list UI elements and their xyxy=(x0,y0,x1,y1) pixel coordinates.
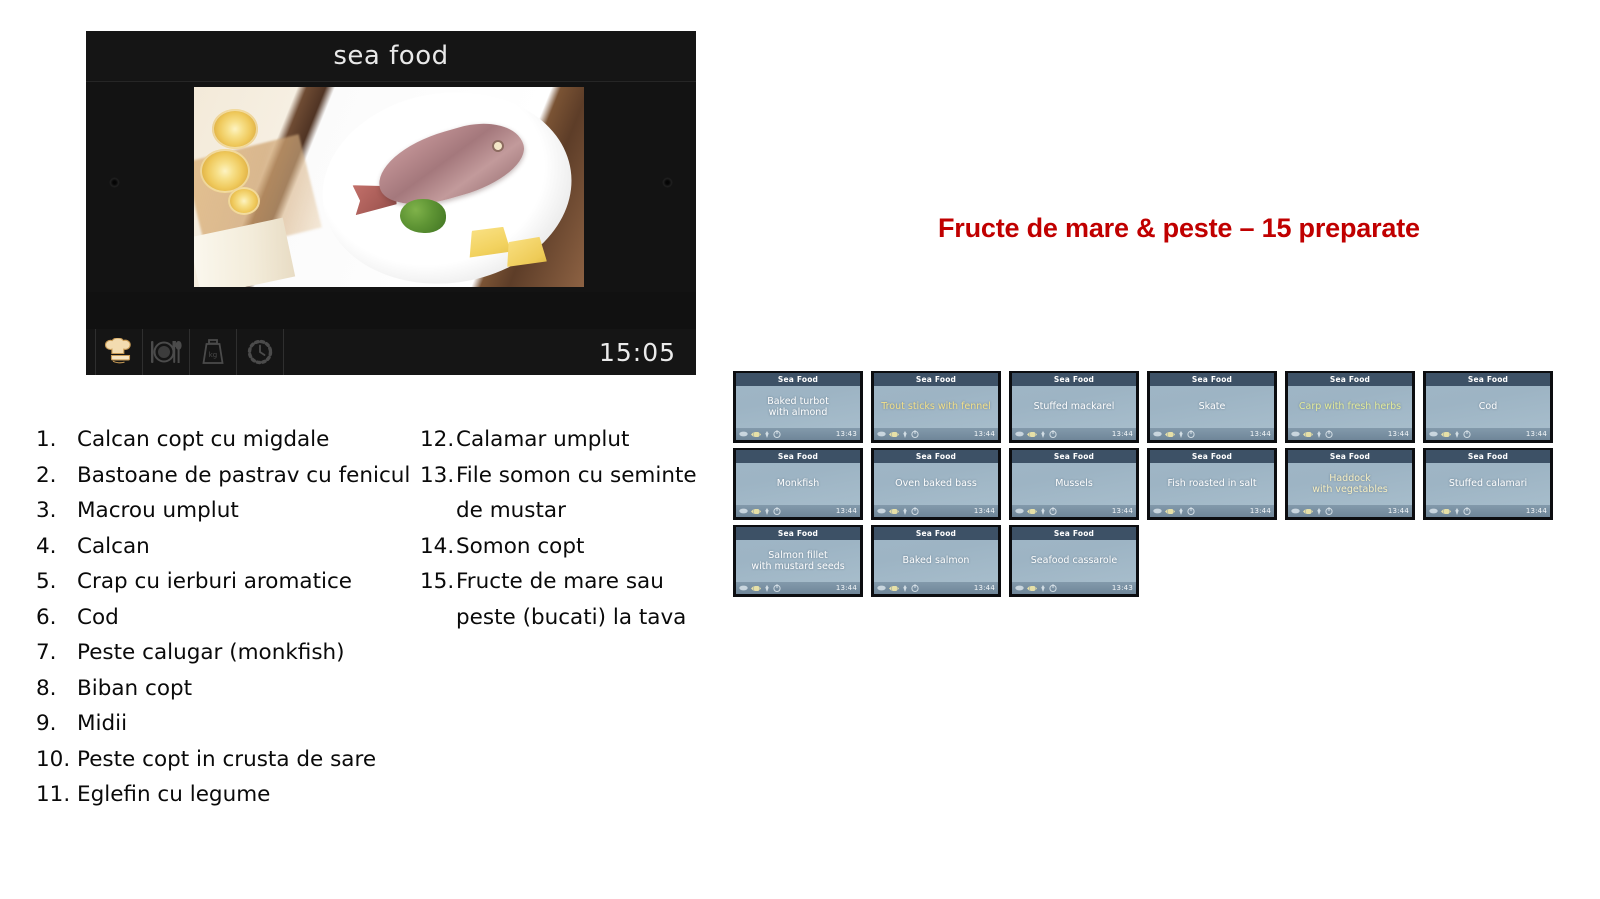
oven-toolbar: kg 15:05 xyxy=(86,329,696,375)
timer-button[interactable] xyxy=(237,329,284,375)
recipe-list-label: Bastoane de pastrav cu fenicul xyxy=(77,458,426,494)
recipe-list-label: Biban copt xyxy=(77,671,426,707)
thumbnail-header: Sea Food xyxy=(736,373,860,386)
recipe-thumbnail[interactable]: Sea FoodHaddockwith vegetables13:44 xyxy=(1285,448,1415,520)
thumbnail-title: Stuffed mackarel xyxy=(1034,401,1115,413)
thumbnail-screen: Sea FoodCod13:44 xyxy=(1426,373,1550,440)
tray-icon xyxy=(1015,431,1024,437)
thumbnail-time-label: 13:44 xyxy=(836,507,857,515)
thumbnail-header-label: Sea Food xyxy=(916,452,956,461)
thumbnail-footer: 13:44 xyxy=(1012,505,1136,517)
recipe-list-label: Calcan xyxy=(77,529,426,565)
recipe-thumbnail[interactable]: Sea FoodTrout sticks with fennel13:44 xyxy=(871,371,1001,443)
thumb-footer-icons xyxy=(1291,507,1333,515)
thumb-footer-icons xyxy=(1153,507,1195,515)
thumbnail-footer: 13:44 xyxy=(736,505,860,517)
thumbnail-screen: Sea FoodBaked salmon13:44 xyxy=(874,527,998,594)
refresh-icon xyxy=(773,430,781,438)
recipe-list-item: 2.Bastoane de pastrav cu fenicul xyxy=(36,458,426,494)
thumbnail-time-label: 13:44 xyxy=(1526,507,1547,515)
probe-icon xyxy=(764,431,770,438)
thumbnail-header-label: Sea Food xyxy=(1054,529,1094,538)
tray-icon xyxy=(1015,585,1024,591)
recipe-list-item: 14.Somon copt xyxy=(420,529,720,565)
sensor-dot-right-icon xyxy=(663,178,672,187)
thumbnail-header-label: Sea Food xyxy=(1330,375,1370,384)
recipe-list-label: Peste calugar (monkfish) xyxy=(77,635,426,671)
plate-cutlery-icon xyxy=(149,338,183,366)
recipe-thumbnail[interactable]: Sea FoodFish roasted in salt13:44 xyxy=(1147,448,1277,520)
thumbnail-header-label: Sea Food xyxy=(1192,375,1232,384)
thumbnail-screen: Sea FoodCarp with fresh herbs13:44 xyxy=(1288,373,1412,440)
recipe-list-item: 1.Calcan copt cu migdale xyxy=(36,422,426,458)
thumbnail-footer: 13:44 xyxy=(1012,428,1136,440)
thumbnail-time-label: 13:44 xyxy=(1526,430,1547,438)
recipe-list-number: 7. xyxy=(36,635,77,671)
thumbnail-header: Sea Food xyxy=(1426,450,1550,463)
refresh-icon xyxy=(1463,507,1471,515)
thumbnail-header-label: Sea Food xyxy=(1468,452,1508,461)
refresh-icon xyxy=(1187,430,1195,438)
refresh-icon xyxy=(1463,430,1471,438)
recipe-list-number: 5. xyxy=(36,564,77,600)
thumbnail-footer: 13:44 xyxy=(874,582,998,594)
thumbnail-body: Mussels xyxy=(1012,463,1136,505)
thumbnail-header-label: Sea Food xyxy=(1054,452,1094,461)
thumbnail-header: Sea Food xyxy=(736,527,860,540)
recipe-list-number: 11. xyxy=(36,777,77,813)
dish-photo xyxy=(194,87,584,287)
thumbnail-body: Baked turbotwith almond xyxy=(736,386,860,428)
thumbnail-footer: 13:43 xyxy=(1012,582,1136,594)
thumbnail-screen: Sea FoodTrout sticks with fennel13:44 xyxy=(874,373,998,440)
probe-icon xyxy=(1040,431,1046,438)
thumbnail-row: Sea FoodMonkfish13:44Sea FoodOven baked … xyxy=(733,448,1563,520)
recipe-thumbnail[interactable]: Sea FoodCarp with fresh herbs13:44 xyxy=(1285,371,1415,443)
recipe-list-label: Calamar umplut xyxy=(456,422,720,458)
thumbnail-time-label: 13:44 xyxy=(1112,430,1133,438)
recipe-list-number: 9. xyxy=(36,706,77,742)
thumbnail-header-label: Sea Food xyxy=(1330,452,1370,461)
tray-icon xyxy=(1429,508,1438,514)
thumbnail-title: Fish roasted in salt xyxy=(1167,478,1256,490)
thumbnail-body: Salmon filletwith mustard seeds xyxy=(736,540,860,582)
thumbnail-screen: Sea FoodBaked turbotwith almond13:43 xyxy=(736,373,860,440)
thumbnail-screen: Sea FoodSkate13:44 xyxy=(1150,373,1274,440)
probe-icon xyxy=(764,585,770,592)
thumbnail-header-label: Sea Food xyxy=(916,529,956,538)
thumbnail-screen: Sea FoodSalmon filletwith mustard seeds1… xyxy=(736,527,860,594)
recipe-thumbnail[interactable]: Sea FoodSalmon filletwith mustard seeds1… xyxy=(733,525,863,597)
recipe-list-number: 6. xyxy=(36,600,77,636)
tray-icon xyxy=(739,508,748,514)
thumbnail-time-label: 13:44 xyxy=(974,584,995,592)
probe-icon xyxy=(764,508,770,515)
thumbnail-header-label: Sea Food xyxy=(778,452,818,461)
thumbnail-footer: 13:44 xyxy=(1150,505,1274,517)
recipe-thumbnail[interactable]: Sea FoodMonkfish13:44 xyxy=(733,448,863,520)
fish-icon xyxy=(1027,585,1037,592)
thumbnail-footer: 13:44 xyxy=(1288,505,1412,517)
thumbnail-body: Seafood cassarole xyxy=(1012,540,1136,582)
recipe-list-item: 11.Eglefin cu legume xyxy=(36,777,426,813)
thumbnail-body: Fish roasted in salt xyxy=(1150,463,1274,505)
thumb-footer-icons xyxy=(739,507,781,515)
recipe-list-label: Cod xyxy=(77,600,426,636)
recipe-list-item: 6.Cod xyxy=(36,600,426,636)
fish-icon xyxy=(1165,508,1175,515)
chef-hat-button[interactable] xyxy=(95,329,143,375)
recipe-list-number: 1. xyxy=(36,422,77,458)
thumbnail-time-label: 13:44 xyxy=(1112,507,1133,515)
recipe-list-label: Crap cu ierburi aromatice xyxy=(77,564,426,600)
thumb-footer-icons xyxy=(1015,584,1057,592)
recipe-list-item: 12.Calamar umplut xyxy=(420,422,720,458)
thumbnail-header: Sea Food xyxy=(874,373,998,386)
recipe-list-item: 13.File somon cu seminte de mustar xyxy=(420,458,720,529)
thumbnail-footer: 13:44 xyxy=(1426,505,1550,517)
recipe-list-label: Eglefin cu legume xyxy=(77,777,426,813)
thumb-footer-icons xyxy=(1291,430,1333,438)
fish-icon xyxy=(889,431,899,438)
thumbnail-header-label: Sea Food xyxy=(778,529,818,538)
thumbnail-header: Sea Food xyxy=(1012,373,1136,386)
recipe-list-item: 4.Calcan xyxy=(36,529,426,565)
thumb-footer-icons xyxy=(877,430,919,438)
weight-kg-icon: kg xyxy=(198,338,228,366)
thumbnail-header: Sea Food xyxy=(1288,450,1412,463)
thumbnail-body: Oven baked bass xyxy=(874,463,998,505)
probe-icon xyxy=(902,431,908,438)
refresh-icon xyxy=(1325,507,1333,515)
recipe-thumbnail[interactable]: Sea FoodStuffed mackarel13:44 xyxy=(1009,371,1139,443)
tray-icon xyxy=(877,585,886,591)
tray-icon xyxy=(739,585,748,591)
probe-icon xyxy=(1178,508,1184,515)
tray-icon xyxy=(739,431,748,437)
fish-icon xyxy=(889,585,899,592)
fish-icon xyxy=(1441,431,1451,438)
thumbnail-header-label: Sea Food xyxy=(1054,375,1094,384)
thumbnail-footer: 13:44 xyxy=(874,505,998,517)
thumbnail-header-label: Sea Food xyxy=(916,375,956,384)
probe-icon xyxy=(1316,508,1322,515)
refresh-icon xyxy=(1049,507,1057,515)
refresh-icon xyxy=(911,430,919,438)
probe-icon xyxy=(902,585,908,592)
thumbnail-body: Stuffed calamari xyxy=(1426,463,1550,505)
refresh-icon xyxy=(773,584,781,592)
thumbnail-title: Skate xyxy=(1199,401,1226,413)
thumbnail-body: Stuffed mackarel xyxy=(1012,386,1136,428)
thumbnail-screen: Sea FoodOven baked bass13:44 xyxy=(874,450,998,517)
fish-icon xyxy=(751,585,761,592)
thumbnail-screen: Sea FoodStuffed calamari13:44 xyxy=(1426,450,1550,517)
probe-icon xyxy=(1454,431,1460,438)
recipe-list-item: 15.Fructe de mare sau peste (bucati) la … xyxy=(420,564,720,635)
thumbnail-time-label: 13:44 xyxy=(1388,507,1409,515)
thumbnail-title: Mussels xyxy=(1055,478,1093,490)
recipe-thumbnail[interactable]: Sea FoodSeafood cassarole13:43 xyxy=(1009,525,1139,597)
recipe-list-number: 14. xyxy=(420,529,456,565)
thumbnail-body: Skate xyxy=(1150,386,1274,428)
refresh-icon xyxy=(911,507,919,515)
probe-icon xyxy=(1454,508,1460,515)
thumbnail-row: Sea FoodBaked turbotwith almond13:43Sea … xyxy=(733,371,1563,443)
oven-title-label: sea food xyxy=(333,41,448,71)
fish-icon xyxy=(1165,431,1175,438)
thumbnail-time-label: 13:44 xyxy=(1388,430,1409,438)
refresh-icon xyxy=(1325,430,1333,438)
sensor-dot-left-icon xyxy=(110,178,119,187)
timer-icon xyxy=(245,338,275,366)
thumbnail-row: Sea FoodSalmon filletwith mustard seeds1… xyxy=(733,525,1563,597)
oven-title-bar: sea food xyxy=(86,31,696,82)
thumbnail-footer: 13:44 xyxy=(1288,428,1412,440)
recipe-list-label: Somon copt xyxy=(456,529,720,565)
thumb-footer-icons xyxy=(877,507,919,515)
refresh-icon xyxy=(1187,507,1195,515)
thumbnail-time-label: 13:44 xyxy=(974,430,995,438)
thumbnail-body: Baked salmon xyxy=(874,540,998,582)
thumbnail-title: Monkfish xyxy=(777,478,820,490)
thumbnail-header-label: Sea Food xyxy=(1192,452,1232,461)
recipe-list-item: 8.Biban copt xyxy=(36,671,426,707)
fish-icon xyxy=(1303,508,1313,515)
tray-icon xyxy=(1291,508,1300,514)
thumbnail-header: Sea Food xyxy=(1426,373,1550,386)
thumb-footer-icons xyxy=(1153,430,1195,438)
thumbnail-body: Carp with fresh herbs xyxy=(1288,386,1412,428)
thumbnail-header: Sea Food xyxy=(874,450,998,463)
thumbnail-time-label: 13:44 xyxy=(1250,430,1271,438)
fish-icon xyxy=(1027,431,1037,438)
tray-icon xyxy=(1153,431,1162,437)
thumbnail-title: Cod xyxy=(1479,401,1497,413)
tray-icon xyxy=(1015,508,1024,514)
thumbnail-time-label: 13:43 xyxy=(836,430,857,438)
thumbnail-footer: 13:44 xyxy=(874,428,998,440)
thumbnail-title: Baked salmon xyxy=(903,555,970,567)
probe-icon xyxy=(1316,431,1322,438)
thumbnail-time-label: 13:44 xyxy=(1250,507,1271,515)
oven-clock-label: 15:05 xyxy=(599,338,676,367)
thumbnail-title: Seafood cassarole xyxy=(1031,555,1117,567)
refresh-icon xyxy=(773,507,781,515)
refresh-icon xyxy=(1049,430,1057,438)
thumbnail-title: Trout sticks with fennel xyxy=(881,401,991,413)
thumbnail-header: Sea Food xyxy=(736,450,860,463)
recipe-thumbnail[interactable]: Sea FoodBaked turbotwith almond13:43 xyxy=(733,371,863,443)
thumbnail-title: Carp with fresh herbs xyxy=(1299,401,1401,413)
thumbnail-screen: Sea FoodMonkfish13:44 xyxy=(736,450,860,517)
tray-icon xyxy=(877,508,886,514)
oven-image-viewport xyxy=(86,82,696,292)
thumbnail-time-label: 13:43 xyxy=(1112,584,1133,592)
thumbnail-header-label: Sea Food xyxy=(778,375,818,384)
thumbnail-footer: 13:44 xyxy=(1426,428,1550,440)
recipe-list-right-column: 12.Calamar umplut13.File somon cu semint… xyxy=(420,422,720,635)
thumb-footer-icons xyxy=(739,584,781,592)
oven-divider-bar xyxy=(86,292,696,330)
thumbnail-body: Cod xyxy=(1426,386,1550,428)
recipe-thumbnail[interactable]: Sea FoodStuffed calamari13:44 xyxy=(1423,448,1553,520)
thumbnail-screen: Sea FoodSeafood cassarole13:43 xyxy=(1012,527,1136,594)
recipe-list-label: Macrou umplut xyxy=(77,493,426,529)
thumbnail-footer: 13:44 xyxy=(1150,428,1274,440)
thumbnail-footer: 13:43 xyxy=(736,428,860,440)
fish-icon xyxy=(889,508,899,515)
tray-icon xyxy=(1291,431,1300,437)
recipe-list-item: 5.Crap cu ierburi aromatice xyxy=(36,564,426,600)
recipe-list-number: 2. xyxy=(36,458,77,494)
probe-icon xyxy=(1040,585,1046,592)
recipe-thumbnail[interactable]: Sea FoodMussels13:44 xyxy=(1009,448,1139,520)
recipe-list-label: Calcan copt cu migdale xyxy=(77,422,426,458)
thumb-footer-icons xyxy=(877,584,919,592)
recipe-list-number: 10. xyxy=(36,742,77,778)
tray-icon xyxy=(1153,508,1162,514)
thumbnail-title: Baked turbotwith almond xyxy=(767,396,829,419)
fish-icon xyxy=(751,431,761,438)
fish-icon xyxy=(1303,431,1313,438)
weight-kg-button[interactable]: kg xyxy=(190,329,237,375)
thumbnail-screen: Sea FoodMussels13:44 xyxy=(1012,450,1136,517)
recipe-list-item: 10.Peste copt in crusta de sare xyxy=(36,742,426,778)
recipe-thumbnail[interactable]: Sea FoodSkate13:44 xyxy=(1147,371,1277,443)
refresh-icon xyxy=(1049,584,1057,592)
thumbnail-body: Trout sticks with fennel xyxy=(874,386,998,428)
probe-icon xyxy=(1178,431,1184,438)
slide-heading: Fructe de mare & peste – 15 preparate xyxy=(938,213,1420,244)
recipe-list-label: Peste copt in crusta de sare xyxy=(77,742,426,778)
thumbnail-header: Sea Food xyxy=(1150,450,1274,463)
recipe-list-item: 3.Macrou umplut xyxy=(36,493,426,529)
tray-icon xyxy=(1429,431,1438,437)
recipe-list-label: File somon cu seminte de mustar xyxy=(456,458,720,529)
recipe-thumbnail[interactable]: Sea FoodOven baked bass13:44 xyxy=(871,448,1001,520)
recipe-list-left-column: 1.Calcan copt cu migdale2.Bastoane de pa… xyxy=(36,422,426,813)
thumbnail-body: Haddockwith vegetables xyxy=(1288,463,1412,505)
thumbnail-screen: Sea FoodHaddockwith vegetables13:44 xyxy=(1288,450,1412,517)
recipe-list-number: 13. xyxy=(420,458,456,494)
thumbnail-body: Monkfish xyxy=(736,463,860,505)
thumbnail-header: Sea Food xyxy=(1012,450,1136,463)
oven-display-device: sea food xyxy=(86,31,696,375)
plate-cutlery-button[interactable] xyxy=(143,329,190,375)
thumbnail-screen: Sea FoodStuffed mackarel13:44 xyxy=(1012,373,1136,440)
recipe-thumbnail[interactable]: Sea FoodCod13:44 xyxy=(1423,371,1553,443)
svg-text:kg: kg xyxy=(209,351,218,359)
refresh-icon xyxy=(911,584,919,592)
thumbnail-time-label: 13:44 xyxy=(836,584,857,592)
thumbnail-header: Sea Food xyxy=(1150,373,1274,386)
thumbnail-title: Haddockwith vegetables xyxy=(1312,473,1388,496)
fish-icon xyxy=(1441,508,1451,515)
thumbnail-title: Stuffed calamari xyxy=(1449,478,1527,490)
chef-hat-icon xyxy=(102,338,136,366)
thumb-footer-icons xyxy=(1015,507,1057,515)
thumbnail-header-label: Sea Food xyxy=(1468,375,1508,384)
thumb-footer-icons xyxy=(1015,430,1057,438)
recipe-list-number: 3. xyxy=(36,493,77,529)
recipe-list-item: 7.Peste calugar (monkfish) xyxy=(36,635,426,671)
fish-icon xyxy=(751,508,761,515)
recipe-list-number: 15. xyxy=(420,564,456,600)
thumb-footer-icons xyxy=(1429,507,1471,515)
thumb-footer-icons xyxy=(739,430,781,438)
thumbnail-header: Sea Food xyxy=(1288,373,1412,386)
probe-icon xyxy=(1040,508,1046,515)
thumbnail-screen: Sea FoodFish roasted in salt13:44 xyxy=(1150,450,1274,517)
thumbnail-header: Sea Food xyxy=(874,527,998,540)
thumbnail-header: Sea Food xyxy=(1012,527,1136,540)
recipe-thumbnail[interactable]: Sea FoodBaked salmon13:44 xyxy=(871,525,1001,597)
thumbnail-title: Salmon filletwith mustard seeds xyxy=(751,550,844,573)
thumb-footer-icons xyxy=(1429,430,1471,438)
tray-icon xyxy=(877,431,886,437)
recipe-list-label: Midii xyxy=(77,706,426,742)
recipe-thumbnail-grid: Sea FoodBaked turbotwith almond13:43Sea … xyxy=(733,371,1563,602)
thumbnail-title: Oven baked bass xyxy=(895,478,977,490)
thumbnail-footer: 13:44 xyxy=(736,582,860,594)
recipe-list-item: 9.Midii xyxy=(36,706,426,742)
recipe-list-number: 8. xyxy=(36,671,77,707)
recipe-list-label: Fructe de mare sau peste (bucati) la tav… xyxy=(456,564,720,635)
recipe-list-number: 4. xyxy=(36,529,77,565)
thumbnail-time-label: 13:44 xyxy=(974,507,995,515)
fish-icon xyxy=(1027,508,1037,515)
recipe-list-number: 12. xyxy=(420,422,456,458)
probe-icon xyxy=(902,508,908,515)
